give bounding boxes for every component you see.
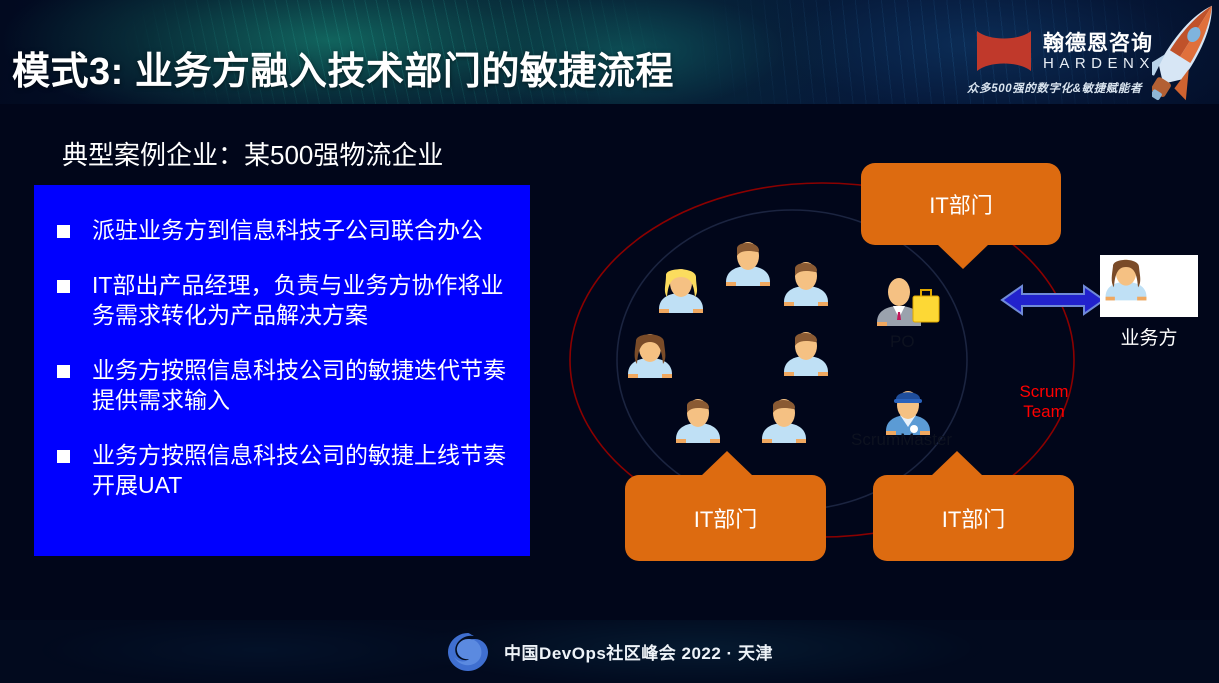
team-member-avatar <box>653 265 709 317</box>
bullet-text: 业务方按照信息科技公司的敏捷迭代节奏提供需求输入 <box>92 355 508 416</box>
list-item: 业务方按照信息科技公司的敏捷迭代节奏提供需求输入 <box>52 355 508 416</box>
scrum-team-diagram: PO ScrumMaster Scrum Team <box>560 110 1219 610</box>
team-member-avatar <box>756 395 812 447</box>
team-member-avatar <box>670 395 726 447</box>
slide-root: 模式3: 业务方融入技术部门的敏捷流程 翰德恩咨询 HARDENX 众多500强… <box>0 0 1219 683</box>
list-item: IT部出产品经理，负责与业务方协作将业务需求转化为产品解决方案 <box>52 270 508 331</box>
callout-it-department-top[interactable]: IT部门 <box>861 163 1061 245</box>
bullet-square-icon <box>57 450 70 463</box>
female-user-avatar-icon <box>1100 255 1152 305</box>
business-side-avatar-card <box>1100 255 1198 317</box>
business-side-label: 业务方 <box>1100 323 1198 350</box>
slide-footer: 中国DevOps社区峰会 2022 · 天津 <box>0 620 1219 683</box>
bullet-text: IT部出产品经理，负责与业务方协作将业务需求转化为产品解决方案 <box>92 270 508 331</box>
callout-tail <box>937 244 989 269</box>
page-title: 模式3: 业务方融入技术部门的敏捷流程 <box>12 40 674 95</box>
case-company-line: 典型案例企业：某500强物流企业 <box>62 135 443 172</box>
team-member-avatar <box>720 238 776 290</box>
bullet-square-icon <box>57 280 70 293</box>
devops-community-swirl-logo-icon <box>446 630 490 674</box>
scrum-master-label: ScrumMaster <box>851 430 952 450</box>
bullet-square-icon <box>57 225 70 238</box>
callout-tail <box>931 451 983 476</box>
brand-name-cn: 翰德恩咨询 <box>1043 27 1153 57</box>
callout-label: IT部门 <box>942 502 1006 534</box>
double-headed-arrow-icon <box>1000 282 1106 318</box>
team-member-avatar <box>778 328 834 380</box>
list-item: 派驻业务方到信息科技子公司联合办公 <box>52 215 508 246</box>
scrum-team-label: Scrum Team <box>1009 382 1079 421</box>
callout-it-department-bottom-left[interactable]: IT部门 <box>625 475 826 561</box>
team-member-avatar <box>622 330 678 382</box>
footer-text: 中国DevOps社区峰会 2022 · 天津 <box>504 639 773 664</box>
callout-tail <box>701 451 753 476</box>
product-owner-avatar <box>873 276 943 332</box>
brand-name-en: HARDENX <box>1043 55 1155 72</box>
product-owner-label: PO <box>890 332 915 352</box>
brand-tagline: 众多500强的数字化&敏捷赋能者 <box>967 80 1142 96</box>
bullet-square-icon <box>57 365 70 378</box>
space-shuttle-rocket-icon <box>1152 0 1219 114</box>
team-member-avatar <box>778 258 834 310</box>
hardenx-bowtie-logo-icon <box>975 29 1033 73</box>
callout-it-department-bottom-right[interactable]: IT部门 <box>873 475 1074 561</box>
callout-label: IT部门 <box>929 188 993 220</box>
key-points-panel: 派驻业务方到信息科技子公司联合办公 IT部出产品经理，负责与业务方协作将业务需求… <box>34 185 530 556</box>
callout-label: IT部门 <box>694 502 758 534</box>
list-item: 业务方按照信息科技公司的敏捷上线节奏开展UAT <box>52 440 508 501</box>
brand-logo: 翰德恩咨询 HARDENX 众多500强的数字化&敏捷赋能者 <box>975 22 1175 100</box>
bullet-text: 业务方按照信息科技公司的敏捷上线节奏开展UAT <box>92 440 508 501</box>
bullet-text: 派驻业务方到信息科技子公司联合办公 <box>92 215 483 246</box>
